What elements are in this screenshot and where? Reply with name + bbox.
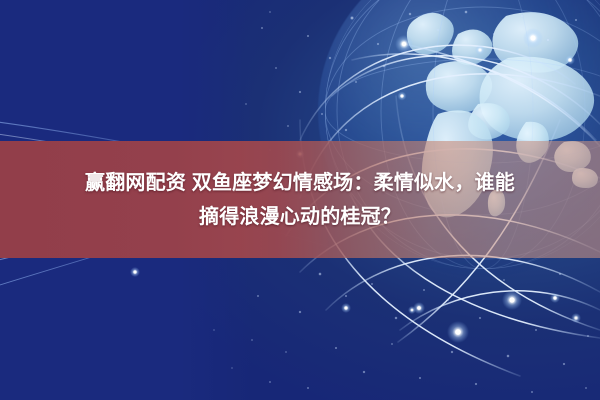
headline-text: 赢翻网配资 双鱼座梦幻情感场：柔情似水，谁能 摘得浪漫心动的桂冠？ [0,141,600,258]
banner-image: 赢翻网配资 双鱼座梦幻情感场：柔情似水，谁能 摘得浪漫心动的桂冠？ [0,0,600,400]
headline-line-2: 摘得浪漫心动的桂冠？ [199,203,401,231]
headline-line-1: 赢翻网配资 双鱼座梦幻情感场：柔情似水，谁能 [85,169,515,197]
